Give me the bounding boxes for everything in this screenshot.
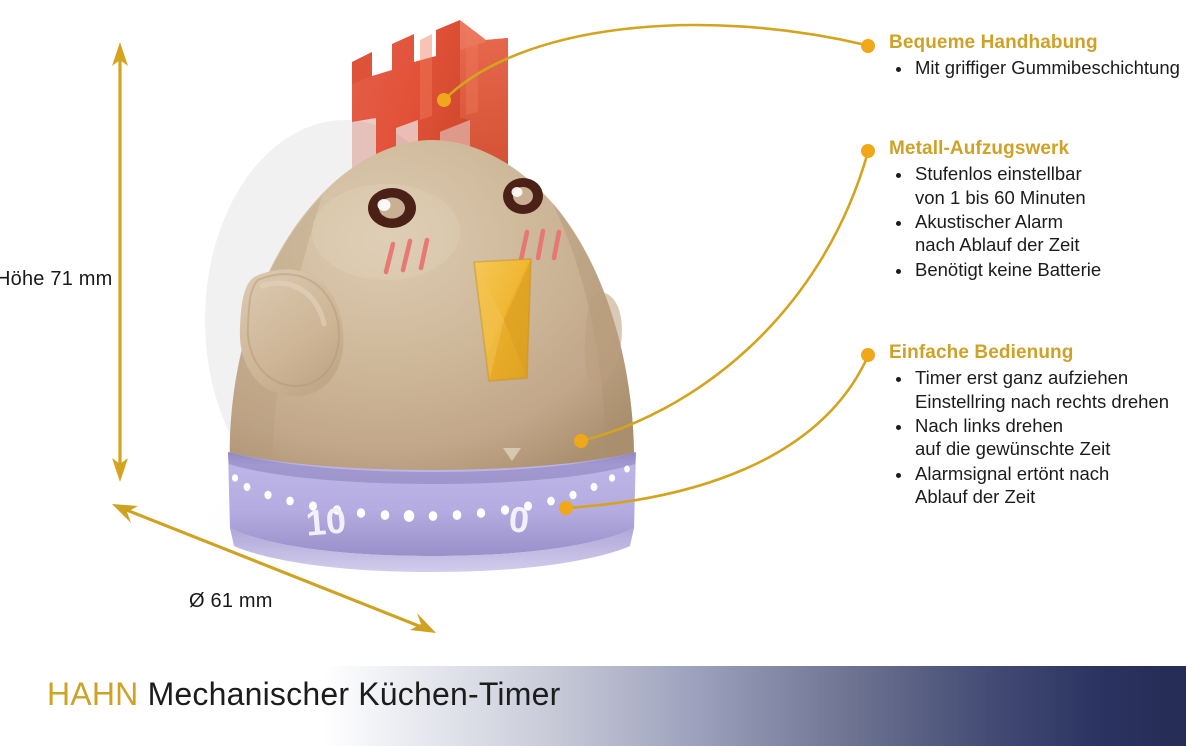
list-item: Alarmsignal ertönt nach Ablauf der Zeit xyxy=(889,462,1186,509)
list-item-line: Nach links drehen xyxy=(915,415,1063,436)
list-item-line: Akustischer Alarm xyxy=(915,211,1063,232)
list-item-line: Mit griffiger Gummibeschichtung xyxy=(915,57,1180,78)
list-item: Benötigt keine Batterie xyxy=(889,258,1186,281)
callout-list: Mit griffiger Gummibeschichtung xyxy=(889,56,1186,79)
infographic-canvas: 10 0 xyxy=(0,0,1186,746)
list-item: Nach links drehen auf die gewünschte Zei… xyxy=(889,414,1186,461)
list-item-line: Timer erst ganz aufziehen xyxy=(915,367,1128,388)
callout-title: Bequeme Handhabung xyxy=(889,32,1186,54)
list-item: Akustischer Alarm nach Ablauf der Zeit xyxy=(889,210,1186,257)
list-item-line: nach Ablauf der Zeit xyxy=(915,233,1186,256)
list-item-line: Einstellring nach rechts drehen xyxy=(915,390,1186,413)
callout-metall-aufzugswerk: Metall-Aufzugswerk Stufenlos einstellbar… xyxy=(889,138,1186,282)
bullet-icon xyxy=(896,473,901,478)
callout-list: Timer erst ganz aufziehen Einstellring n… xyxy=(889,366,1186,509)
bullet-icon xyxy=(896,425,901,430)
list-item-line: Stufenlos einstellbar xyxy=(915,163,1082,184)
bullet-icon xyxy=(896,67,901,72)
callout-title: Metall-Aufzugswerk xyxy=(889,138,1186,160)
callout-bequeme-handhabung: Bequeme Handhabung Mit griffiger Gummibe… xyxy=(889,32,1186,81)
list-item: Stufenlos einstellbar von 1 bis 60 Minut… xyxy=(889,162,1186,209)
list-item: Mit griffiger Gummibeschichtung xyxy=(889,56,1186,79)
list-item-line: von 1 bis 60 Minuten xyxy=(915,186,1186,209)
list-item-line: Benötigt keine Batterie xyxy=(915,259,1101,280)
bullet-icon xyxy=(896,377,901,382)
list-item-line: Alarmsignal ertönt nach xyxy=(915,463,1109,484)
callout-einfache-bedienung: Einfache Bedienung Timer erst ganz aufzi… xyxy=(889,342,1186,510)
bullet-icon xyxy=(896,269,901,274)
list-item-line: Ablauf der Zeit xyxy=(915,485,1186,508)
callout-list: Stufenlos einstellbar von 1 bis 60 Minut… xyxy=(889,162,1186,281)
text-layer: Höhe 71 mm Ø 61 mm Bequeme Handhabung Mi… xyxy=(0,0,1186,746)
callout-title: Einfache Bedienung xyxy=(889,342,1186,364)
list-item: Timer erst ganz aufziehen Einstellring n… xyxy=(889,366,1186,413)
bullet-icon xyxy=(896,173,901,178)
height-dimension-label: Höhe 71 mm xyxy=(0,268,113,291)
bullet-icon xyxy=(896,221,901,226)
diameter-dimension-label: Ø 61 mm xyxy=(189,590,273,613)
list-item-line: auf die gewünschte Zeit xyxy=(915,437,1186,460)
